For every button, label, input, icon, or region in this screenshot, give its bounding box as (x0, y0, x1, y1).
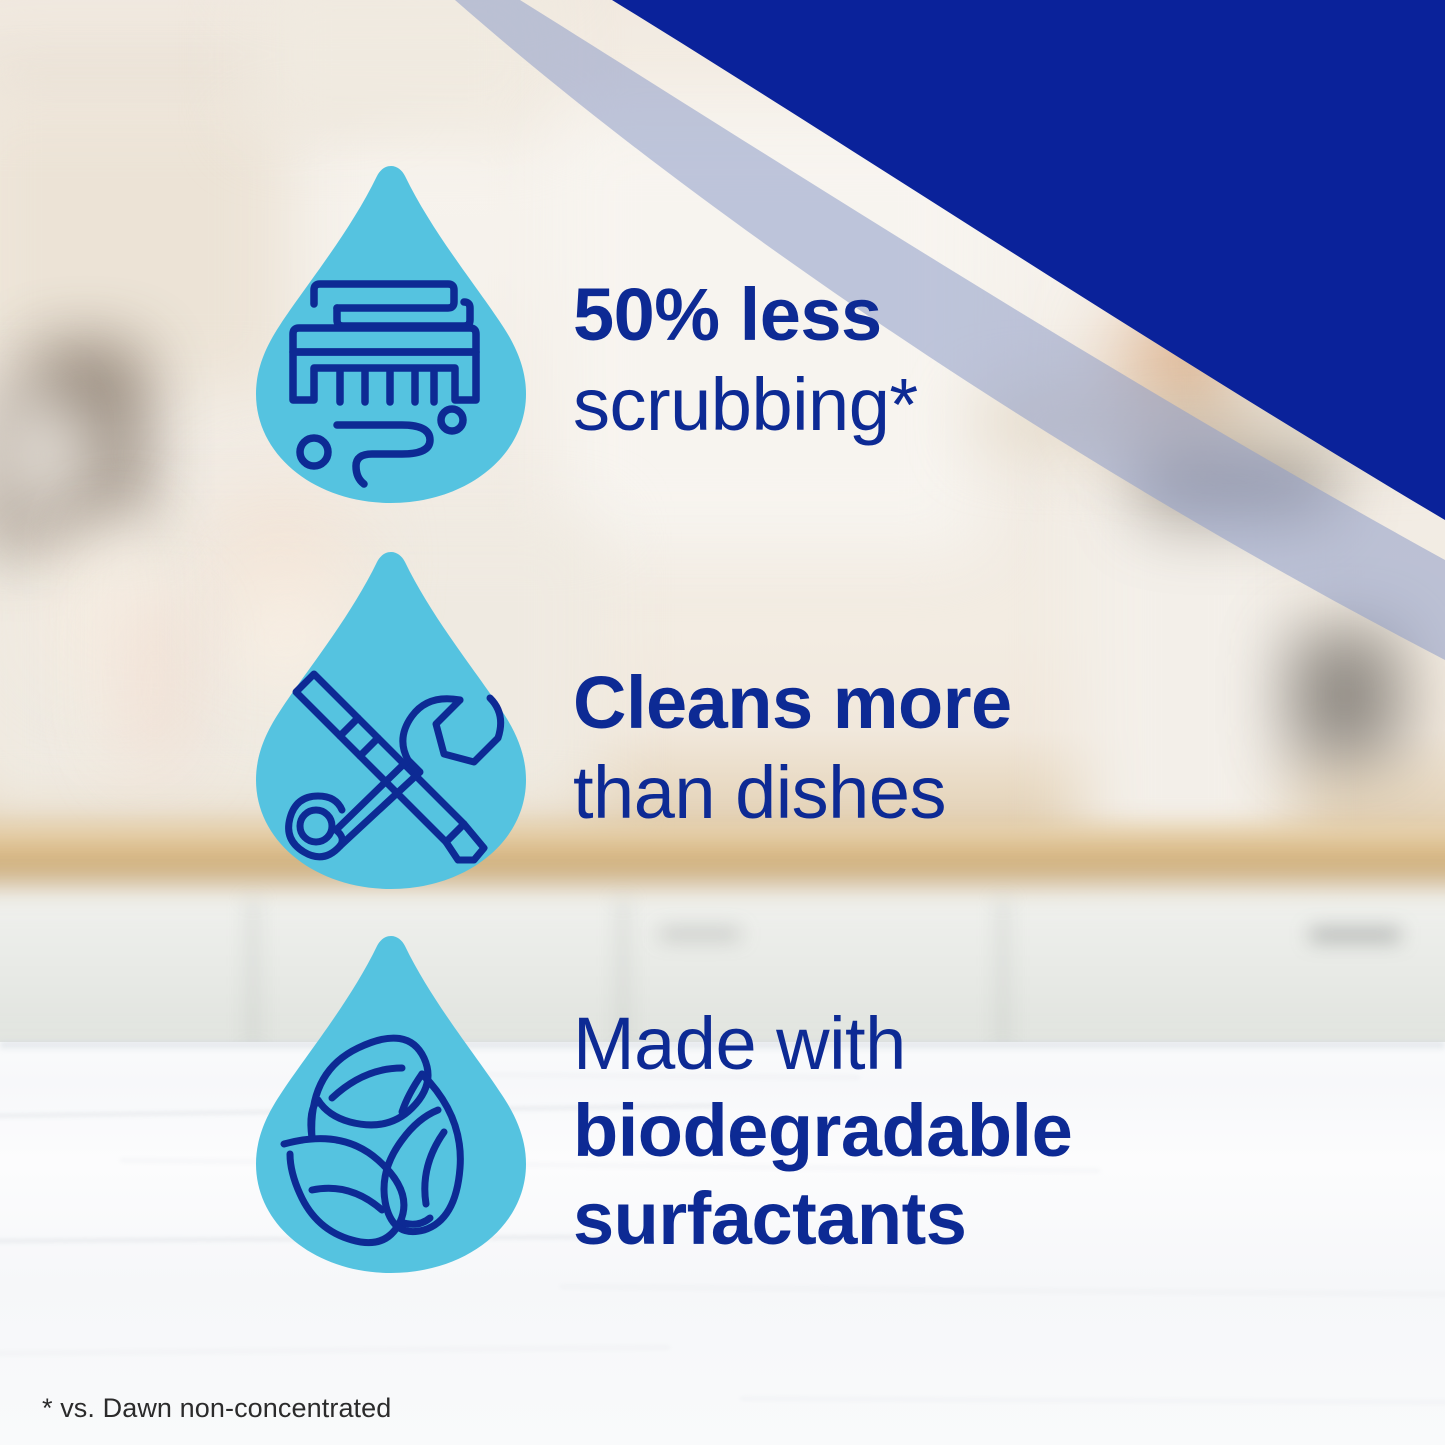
benefits-content: 50% less scrubbing* (0, 0, 1445, 1445)
benefit-3-line-2: biodegradable (573, 1087, 1072, 1174)
benefit-droplet-1 (252, 162, 530, 507)
benefit-droplet-2 (252, 548, 530, 893)
marketing-graphic: 50% less scrubbing* (0, 0, 1445, 1445)
footnote-disclaimer: * vs. Dawn non-concentrated (42, 1393, 391, 1424)
droplet-path (256, 552, 526, 889)
benefit-text-1: 50% less scrubbing* (573, 270, 918, 451)
droplet-shape-1 (252, 162, 530, 507)
benefit-1-line-1: 50% less (573, 270, 918, 360)
benefit-3-line-1: Made with (573, 1000, 1072, 1087)
benefit-droplet-3 (252, 932, 530, 1277)
benefit-2-line-1: Cleans more (573, 658, 1012, 748)
benefit-2-line-2: than dishes (573, 748, 1012, 838)
benefit-3-line-3: surfactants (573, 1175, 1072, 1262)
benefit-1-line-2: scrubbing* (573, 360, 918, 450)
benefit-text-2: Cleans more than dishes (573, 658, 1012, 839)
droplet-shape-3 (252, 932, 530, 1277)
benefit-text-3: Made with biodegradable surfactants (573, 1000, 1072, 1262)
droplet-shape-2 (252, 548, 530, 893)
